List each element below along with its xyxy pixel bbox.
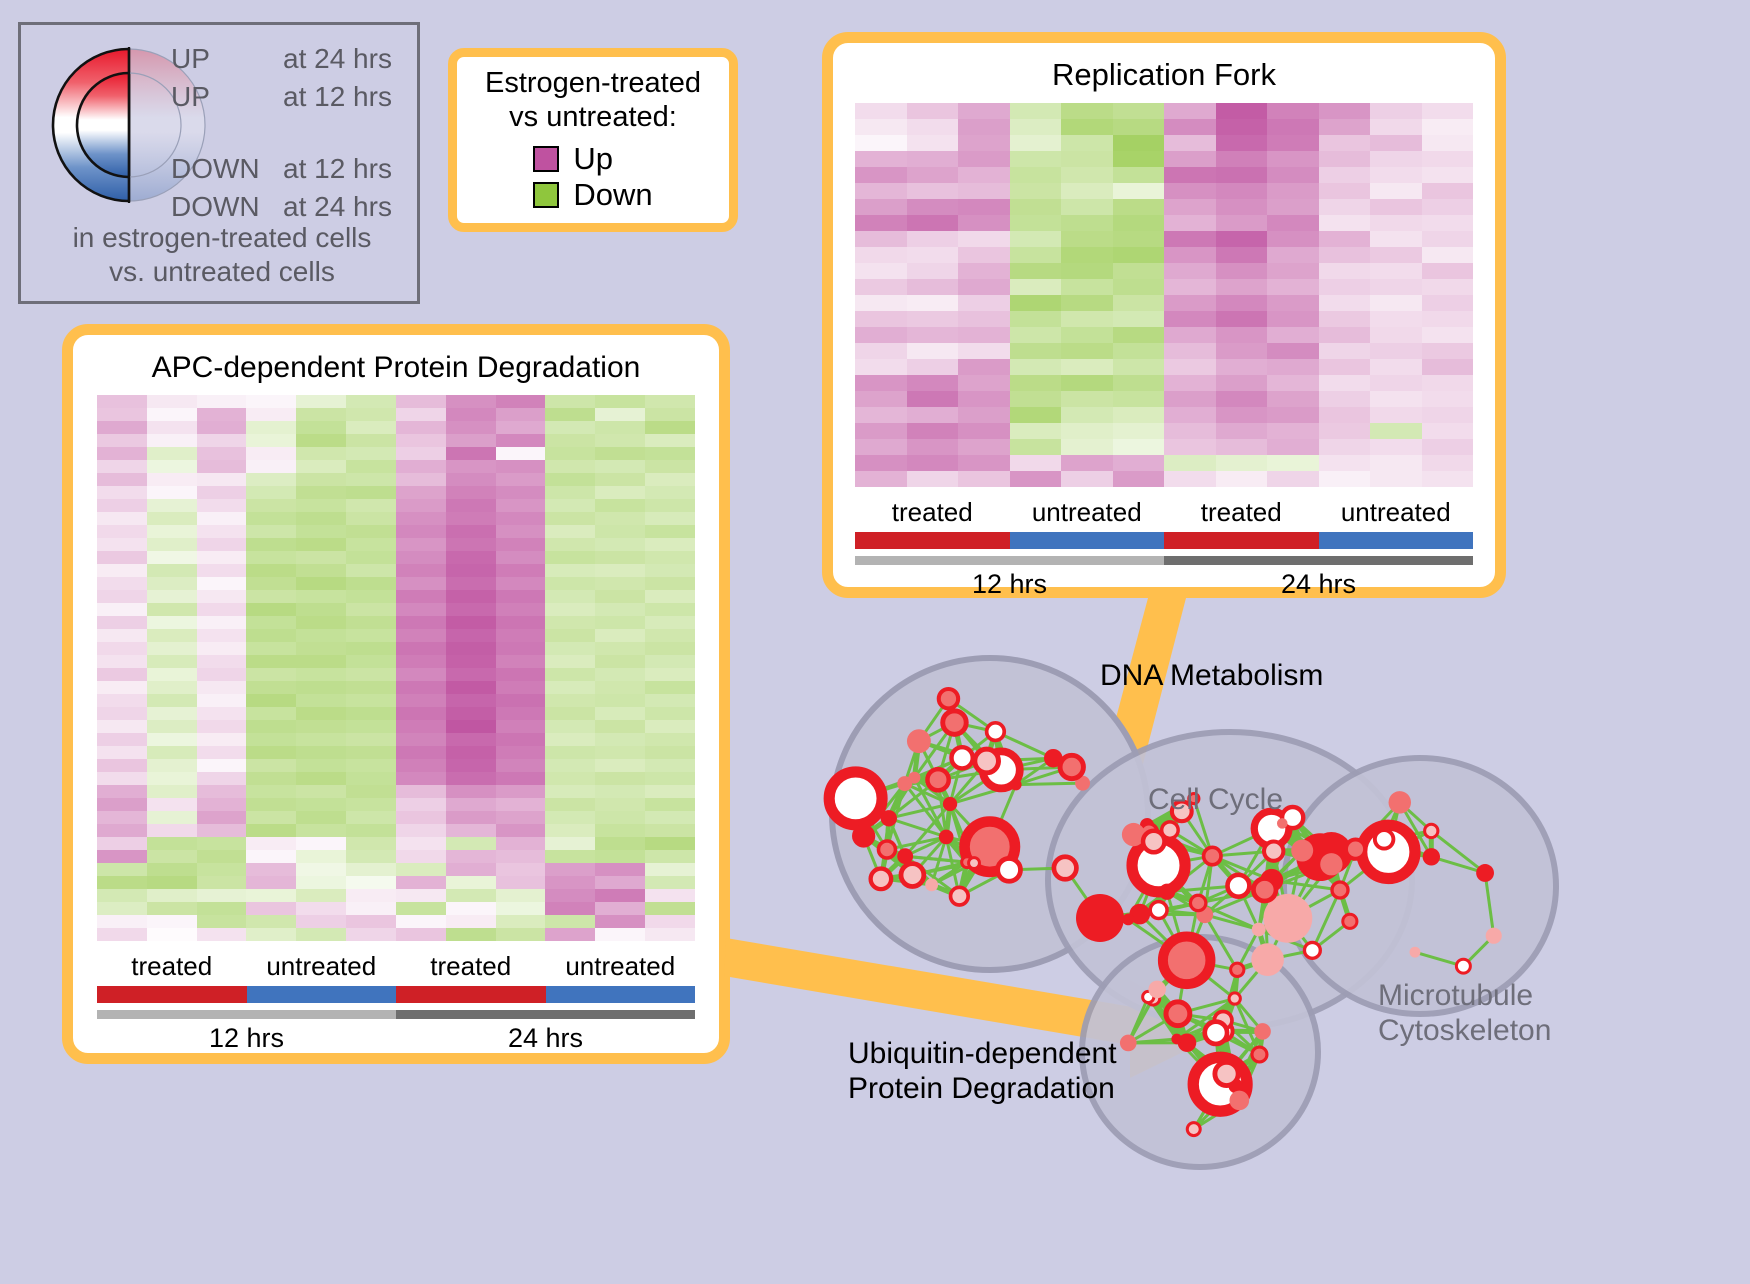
heatmap-cell <box>446 395 496 408</box>
heatmap-cell <box>147 408 197 421</box>
colorwheel-caption-line2: vs. untreated cells <box>21 255 423 289</box>
network-node[interactable] <box>1120 1035 1137 1052</box>
network-node[interactable] <box>1163 937 1211 985</box>
heatmap-cell <box>1061 263 1113 279</box>
heatmap-cell <box>147 486 197 499</box>
heatmap-cell <box>147 629 197 642</box>
heatmap-cell <box>147 733 197 746</box>
heatmap-cell <box>1164 471 1216 487</box>
heatmap-cell <box>855 471 907 487</box>
network-node[interactable] <box>1410 947 1421 958</box>
network-node[interactable] <box>951 747 972 768</box>
heatmap-cell <box>907 263 959 279</box>
heatmap-cell <box>396 876 446 889</box>
heatmap-cell <box>496 603 546 616</box>
heatmap-cell <box>197 629 247 642</box>
heatmap-cell <box>1422 359 1474 375</box>
network-node[interactable] <box>1159 884 1175 900</box>
network-node[interactable] <box>987 723 1005 741</box>
heatmap-cell <box>496 473 546 486</box>
heatmap-cell <box>496 460 546 473</box>
network-node[interactable] <box>939 689 958 708</box>
heatmap-cell <box>645 824 695 837</box>
heatmap-cell <box>1267 151 1319 167</box>
heatmap-cell <box>1370 471 1422 487</box>
heatmap-cell <box>958 407 1010 423</box>
heatmap-cell <box>496 915 546 928</box>
heatmap-cell <box>346 837 396 850</box>
heatmap-cell <box>1319 375 1371 391</box>
condition-label: treated <box>855 497 1010 528</box>
network-node[interactable] <box>1166 1002 1190 1026</box>
heatmap-cell <box>1164 119 1216 135</box>
heatmap-row <box>97 759 695 772</box>
heatmap-cell <box>545 850 595 863</box>
heatmap-cell <box>1216 279 1268 295</box>
heatmap-cell <box>1113 375 1165 391</box>
heatmap-row <box>97 486 695 499</box>
up-swatch-icon <box>533 146 559 172</box>
heatmap-cell <box>396 642 446 655</box>
heatmap-cell <box>545 928 595 941</box>
heatmap-cell <box>396 915 446 928</box>
heatmap-cell <box>197 512 247 525</box>
heatmap-cell <box>197 928 247 941</box>
heatmap-cell <box>907 343 959 359</box>
heatmap-cell <box>1370 119 1422 135</box>
heatmap-cell <box>1422 423 1474 439</box>
heatmap-cell <box>346 681 396 694</box>
heatmap-cell <box>246 590 296 603</box>
network-node[interactable] <box>1227 875 1249 897</box>
network-node[interactable] <box>829 772 882 825</box>
heatmap-cell <box>1113 135 1165 151</box>
heatmap-cell <box>496 564 546 577</box>
heatmap-cell <box>446 538 496 551</box>
heatmap-cell <box>197 395 247 408</box>
heatmap-cell <box>545 720 595 733</box>
heatmap-row <box>855 231 1473 247</box>
heatmap-cell <box>1113 231 1165 247</box>
heatmap-cell <box>1267 391 1319 407</box>
heatmap-cell <box>595 694 645 707</box>
heatmap-cell <box>1113 215 1165 231</box>
network-node[interactable] <box>1229 993 1240 1004</box>
heatmap-cell <box>97 759 147 772</box>
heatmap-row <box>97 473 695 486</box>
heatmap-cell <box>958 199 1010 215</box>
network-node[interactable] <box>1389 791 1412 814</box>
network-node[interactable] <box>1253 878 1276 901</box>
heatmap-cell <box>296 603 346 616</box>
network-node[interactable] <box>1122 913 1134 925</box>
network-node[interactable] <box>1143 831 1164 852</box>
heatmap-cell <box>197 850 247 863</box>
network-node[interactable] <box>1215 1062 1238 1085</box>
network-node[interactable] <box>943 797 957 811</box>
spacer <box>171 119 421 153</box>
network-node[interactable] <box>1320 853 1342 875</box>
network-node[interactable] <box>907 729 931 753</box>
heatmap-cell <box>296 421 346 434</box>
heatmap-row <box>855 407 1473 423</box>
heatmap-cell <box>396 720 446 733</box>
estrogen-legend-card: Estrogen-treated vs untreated: Up Down <box>448 48 738 232</box>
timepoint-bar-segment <box>855 556 1164 565</box>
heatmap-cell <box>97 590 147 603</box>
heatmap-cell <box>346 655 396 668</box>
heatmap-row <box>855 199 1473 215</box>
heatmap-cell <box>545 642 595 655</box>
heatmap-cell <box>97 395 147 408</box>
heatmap-cell <box>346 876 396 889</box>
heatmap-cell <box>197 746 247 759</box>
heatmap-cell <box>645 772 695 785</box>
heatmap-cell <box>496 538 546 551</box>
heatmap-cell <box>97 603 147 616</box>
heatmap-row <box>97 551 695 564</box>
heatmap-cell <box>1370 231 1422 247</box>
network-node[interactable] <box>975 749 999 773</box>
heatmap-cell <box>496 668 546 681</box>
heatmap-cell <box>1422 231 1474 247</box>
cluster-label-microtubule: Microtubule Cytoskeleton <box>1378 978 1551 1049</box>
heatmap-cell <box>1370 359 1422 375</box>
heatmap-cell <box>1370 247 1422 263</box>
heatmap-row <box>855 359 1473 375</box>
heatmap-cell <box>958 119 1010 135</box>
heatmap-cell <box>197 824 247 837</box>
network-node[interactable] <box>1150 902 1167 919</box>
heatmap-cell <box>197 642 247 655</box>
heatmap-cell <box>645 850 695 863</box>
heatmap-row <box>97 421 695 434</box>
colorwheel-row-value: at 12 hrs <box>283 153 392 185</box>
network-node[interactable] <box>925 878 938 891</box>
heatmap-cell <box>296 915 346 928</box>
heatmap-cell <box>246 876 296 889</box>
heatmap-cell <box>197 915 247 928</box>
heatmap-cell <box>496 525 546 538</box>
heatmap-cell <box>958 327 1010 343</box>
network-node[interactable] <box>878 841 895 858</box>
heatmap-cell <box>907 407 959 423</box>
network-node[interactable] <box>852 824 875 847</box>
panel-title: Replication Fork <box>833 57 1495 93</box>
network-node[interactable] <box>969 858 980 869</box>
heatmap-cell <box>595 876 645 889</box>
heatmap-cell <box>496 408 546 421</box>
heatmap-cell <box>147 564 197 577</box>
network-node[interactable] <box>1254 1023 1271 1040</box>
condition-label: untreated <box>1010 497 1165 528</box>
heatmap-cell <box>396 811 446 824</box>
heatmap-cell <box>296 538 346 551</box>
heatmap-cell <box>595 512 645 525</box>
heatmap-cell <box>1370 167 1422 183</box>
heatmap-cell <box>595 603 645 616</box>
network-node[interactable] <box>1264 841 1283 860</box>
heatmap-cell <box>147 850 197 863</box>
heatmap-cell <box>496 824 546 837</box>
network-node[interactable] <box>951 887 969 905</box>
heatmap-cell <box>958 471 1010 487</box>
network-node[interactable] <box>1060 755 1083 778</box>
heatmap-cell <box>595 902 645 915</box>
network-node[interactable] <box>939 830 954 845</box>
network-node[interactable] <box>1205 1022 1227 1044</box>
heatmap-cell <box>545 746 595 759</box>
heatmap-cell <box>595 915 645 928</box>
estrogen-legend-items: Up Down <box>533 141 652 213</box>
network-node[interactable] <box>1187 1123 1200 1136</box>
heatmap-cell <box>396 655 446 668</box>
heatmap-cell <box>1010 263 1062 279</box>
heatmap-cell <box>1164 455 1216 471</box>
heatmap-cell <box>246 525 296 538</box>
heatmap-row <box>97 668 695 681</box>
heatmap-cell <box>595 655 645 668</box>
network-node[interactable] <box>1423 848 1440 865</box>
legend-item-up: Up <box>533 141 652 177</box>
heatmap-cell <box>645 668 695 681</box>
network-node[interactable] <box>901 864 924 887</box>
condition-label: untreated <box>247 951 397 982</box>
heatmap-cell <box>246 785 296 798</box>
heatmap-row <box>97 928 695 941</box>
heatmap-cell <box>1061 311 1113 327</box>
heatmap-cell <box>1267 231 1319 247</box>
colorwheel-row-up24: UP at 24 hrs <box>171 43 421 81</box>
heatmap-cell <box>346 785 396 798</box>
heatmap-cell <box>645 681 695 694</box>
heatmap-cell <box>1113 167 1165 183</box>
heatmap-cell <box>645 720 695 733</box>
network-node[interactable] <box>871 869 892 890</box>
condition-bar-segment <box>97 986 247 1003</box>
heatmap-cell <box>855 231 907 247</box>
heatmap-cell <box>958 167 1010 183</box>
heatmap-cell <box>1216 183 1268 199</box>
heatmap-cell <box>1422 407 1474 423</box>
network-node[interactable] <box>943 711 966 734</box>
heatmap-cell <box>147 785 197 798</box>
heatmap-cell <box>296 824 346 837</box>
heatmap-cell <box>645 876 695 889</box>
heatmap-cell <box>446 460 496 473</box>
network-node[interactable] <box>1252 1047 1267 1062</box>
heatmap-cell <box>246 655 296 668</box>
heatmap-cell <box>246 564 296 577</box>
heatmap-cell <box>1319 119 1371 135</box>
heatmap-cell <box>1422 183 1474 199</box>
heatmap-cell <box>545 590 595 603</box>
heatmap-row <box>97 746 695 759</box>
condition-label: untreated <box>1319 497 1474 528</box>
heatmap-cell <box>545 421 595 434</box>
heatmap-cell <box>545 473 595 486</box>
heatmap-cell <box>1370 135 1422 151</box>
heatmap-cell <box>1010 471 1062 487</box>
down-swatch-icon <box>533 182 559 208</box>
heatmap-cell <box>1216 391 1268 407</box>
network-node[interactable] <box>1204 847 1221 864</box>
heatmap-cell <box>645 759 695 772</box>
heatmap-cell <box>296 681 346 694</box>
heatmap-cell <box>246 746 296 759</box>
heatmap-cell <box>1113 343 1165 359</box>
heatmap-cell <box>496 512 546 525</box>
network-node[interactable] <box>1251 943 1284 976</box>
heatmap-cell <box>246 577 296 590</box>
heatmap-cell <box>147 499 197 512</box>
heatmap-cell <box>1319 263 1371 279</box>
heatmap-cell <box>396 460 446 473</box>
heatmap-cell <box>496 863 546 876</box>
heatmap-cell <box>1164 391 1216 407</box>
heatmap-cell <box>396 590 446 603</box>
heatmap-cell <box>396 577 446 590</box>
heatmap-cell <box>1422 311 1474 327</box>
network-node[interactable] <box>897 776 912 791</box>
heatmap-cell <box>595 681 645 694</box>
heatmap-cell <box>1010 327 1062 343</box>
network-node[interactable] <box>1190 895 1205 910</box>
heatmap-cell <box>1319 231 1371 247</box>
heatmap-cell <box>545 603 595 616</box>
network-node[interactable] <box>881 810 897 826</box>
heatmap-cell <box>1113 439 1165 455</box>
heatmap-cell <box>147 577 197 590</box>
network-node[interactable] <box>1375 830 1394 849</box>
network-node[interactable] <box>998 858 1021 881</box>
heatmap-cell <box>296 447 346 460</box>
network-node[interactable] <box>1171 1034 1182 1045</box>
legend-item-down: Down <box>533 177 652 213</box>
heatmap-cell <box>1319 295 1371 311</box>
heatmap-row <box>855 327 1473 343</box>
heatmap-cell <box>396 707 446 720</box>
heatmap-cell <box>346 538 396 551</box>
network-node[interactable] <box>1252 923 1266 937</box>
network-node[interactable] <box>1456 959 1470 973</box>
heatmap-cell <box>1010 199 1062 215</box>
heatmap-row <box>97 590 695 603</box>
heatmap-cell <box>595 759 645 772</box>
heatmap-row <box>855 103 1473 119</box>
heatmap-cell <box>346 447 396 460</box>
heatmap-cell <box>1164 247 1216 263</box>
heatmap-cell <box>907 423 959 439</box>
heatmap-cell <box>1422 215 1474 231</box>
heatmap-cell <box>496 642 546 655</box>
heatmap-cell <box>496 759 546 772</box>
heatmap-cell <box>1370 151 1422 167</box>
heatmap-cell <box>855 423 907 439</box>
heatmap-cell <box>645 525 695 538</box>
heatmap-cell <box>1422 167 1474 183</box>
heatmap-cell <box>545 811 595 824</box>
heatmap-cell <box>1370 215 1422 231</box>
network-node[interactable] <box>1044 749 1063 768</box>
heatmap-cell <box>1113 295 1165 311</box>
network-node[interactable] <box>1476 864 1494 882</box>
heatmap-cell <box>1061 151 1113 167</box>
heatmap-row <box>97 824 695 837</box>
heatmap-cell <box>1267 359 1319 375</box>
heatmap-cell <box>645 460 695 473</box>
heatmap-cell <box>958 247 1010 263</box>
heatmap-cell <box>1319 455 1371 471</box>
network-node[interactable] <box>1332 882 1348 898</box>
heatmap-cell <box>446 434 496 447</box>
network-node[interactable] <box>1148 981 1166 999</box>
heatmap-cell <box>1113 279 1165 295</box>
heatmap-cell <box>496 694 546 707</box>
heatmap-cell <box>446 889 496 902</box>
heatmap-row <box>97 681 695 694</box>
colorwheel-row-up12: UP at 12 hrs <box>171 81 421 119</box>
heatmap-cell <box>396 473 446 486</box>
heatmap-cell <box>346 408 396 421</box>
heatmap-cell <box>545 772 595 785</box>
network-node[interactable] <box>1343 914 1357 928</box>
network-node[interactable] <box>1291 840 1313 862</box>
network-node[interactable] <box>1229 1091 1249 1111</box>
heatmap-cell <box>1113 119 1165 135</box>
heatmap-cell <box>1319 279 1371 295</box>
network-node[interactable] <box>927 769 948 790</box>
heatmap-row <box>855 343 1473 359</box>
heatmap-cell <box>346 512 396 525</box>
network-node[interactable] <box>1076 894 1124 942</box>
heatmap-cell <box>197 486 247 499</box>
network-node[interactable] <box>1304 942 1320 958</box>
figure-canvas: UP at 24 hrs UP at 12 hrs DOWN at 12 hrs… <box>0 0 1750 1279</box>
heatmap-cell <box>296 564 346 577</box>
heatmap-cell <box>396 863 446 876</box>
heatmap-cell <box>1113 423 1165 439</box>
heatmap-cell <box>197 876 247 889</box>
heatmap-axis: treateduntreatedtreateduntreated 12 hrs2… <box>855 497 1473 600</box>
network-node[interactable] <box>1486 928 1502 944</box>
heatmap-row <box>97 447 695 460</box>
condition-bar-segment <box>1164 532 1319 549</box>
heatmap-cell <box>147 876 197 889</box>
heatmap-cell <box>97 577 147 590</box>
heatmap-cell <box>645 616 695 629</box>
heatmap-row <box>97 772 695 785</box>
network-node[interactable] <box>1054 857 1076 879</box>
network-node[interactable] <box>1010 779 1021 790</box>
heatmap-cell <box>645 928 695 941</box>
network-node[interactable] <box>1346 839 1365 858</box>
heatmap-cell <box>296 460 346 473</box>
network-node[interactable] <box>1277 818 1288 829</box>
heatmap-cell <box>97 902 147 915</box>
heatmap-cell <box>1216 471 1268 487</box>
heatmap-cell <box>1010 231 1062 247</box>
heatmap-cell <box>246 447 296 460</box>
network-node[interactable] <box>1425 824 1438 837</box>
heatmap-cell <box>396 889 446 902</box>
heatmap-cell <box>496 577 546 590</box>
heatmap-row <box>97 798 695 811</box>
condition-labels: treateduntreatedtreateduntreated <box>97 951 695 982</box>
network-node[interactable] <box>1231 963 1244 976</box>
heatmap-cell <box>246 512 296 525</box>
heatmap-cell <box>645 629 695 642</box>
